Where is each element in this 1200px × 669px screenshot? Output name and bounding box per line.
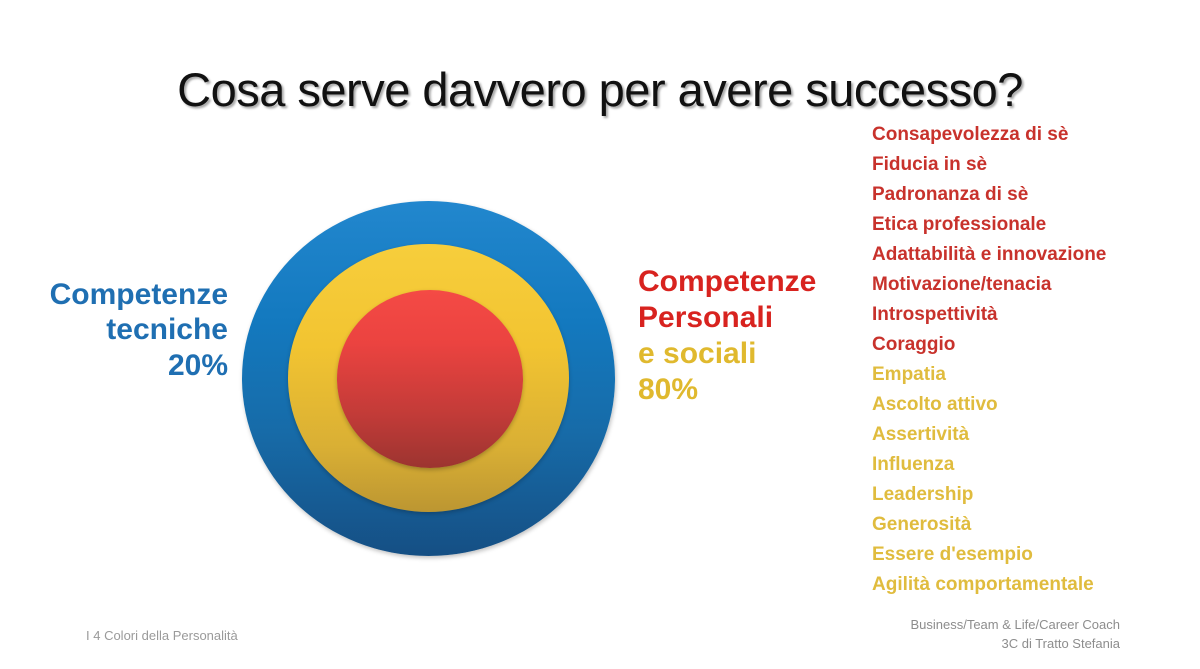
list-item: Ascolto attivo xyxy=(872,390,1172,420)
list-item: Leadership xyxy=(872,480,1172,510)
competency-list: Consapevolezza di sè Fiducia in sè Padro… xyxy=(872,120,1172,600)
footer-right-credit: Business/Team & Life/Career Coach 3C di … xyxy=(910,615,1120,653)
concentric-circles-diagram xyxy=(242,201,615,556)
label-competenze-personali-sociali: Competenze Personali e sociali 80% xyxy=(638,264,868,408)
list-item: Etica professionale xyxy=(872,210,1172,240)
list-item: Assertività xyxy=(872,420,1172,450)
list-item: Coraggio xyxy=(872,330,1172,360)
label-competenze-tecniche: Competenze tecniche 20% xyxy=(0,277,228,383)
list-item: Generosità xyxy=(872,510,1172,540)
footer-right-line2: 3C di Tratto Stefania xyxy=(910,634,1120,653)
footer-left-text: I 4 Colori della Personalità xyxy=(86,628,238,643)
list-item: Padronanza di sè xyxy=(872,180,1172,210)
footer-right-line1: Business/Team & Life/Career Coach xyxy=(910,615,1120,634)
label-right-line1: Competenze xyxy=(638,264,868,300)
list-item: Empatia xyxy=(872,360,1172,390)
inner-circle-personal xyxy=(337,290,523,468)
slide-canvas: Cosa serve davvero per avere successo? C… xyxy=(0,0,1200,669)
list-item: Agilità comportamentale xyxy=(872,570,1172,600)
label-right-line2: Personali xyxy=(638,300,868,336)
label-left-line3: 20% xyxy=(0,348,228,383)
label-left-line1: Competenze xyxy=(0,277,228,312)
page-title: Cosa serve davvero per avere successo? xyxy=(0,62,1200,117)
list-item: Consapevolezza di sè xyxy=(872,120,1172,150)
list-item: Influenza xyxy=(872,450,1172,480)
list-item: Introspettività xyxy=(872,300,1172,330)
list-item: Adattabilità e innovazione xyxy=(872,240,1172,270)
list-item: Fiducia in sè xyxy=(872,150,1172,180)
label-right-line3: e sociali xyxy=(638,336,868,372)
list-item: Motivazione/tenacia xyxy=(872,270,1172,300)
label-right-line4: 80% xyxy=(638,372,868,408)
label-left-line2: tecniche xyxy=(0,312,228,347)
list-item: Essere d'esempio xyxy=(872,540,1172,570)
